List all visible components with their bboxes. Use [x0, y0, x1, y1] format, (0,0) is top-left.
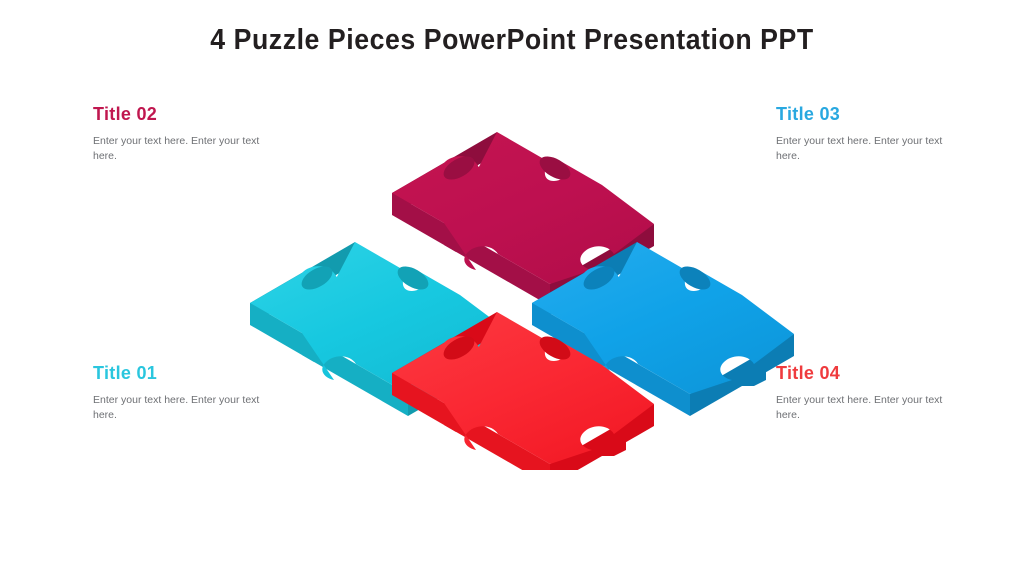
page-title: 4 Puzzle Pieces PowerPoint Presentation …	[41, 24, 983, 57]
puzzle-diagram	[232, 100, 794, 470]
text-block-body-02: Enter your text here. Enter your text he…	[93, 134, 273, 164]
text-block-title-02: Title 02 Enter your text here. Enter you…	[93, 104, 273, 164]
text-block-title-03: Title 03 Enter your text here. Enter you…	[776, 104, 956, 164]
text-block-body-03: Enter your text here. Enter your text he…	[776, 134, 956, 164]
text-block-body-04: Enter your text here. Enter your text he…	[776, 393, 956, 423]
text-block-heading-04: Title 04	[776, 363, 956, 384]
text-block-heading-01: Title 01	[93, 363, 273, 384]
text-block-body-01: Enter your text here. Enter your text he…	[93, 393, 273, 423]
text-block-heading-03: Title 03	[776, 104, 956, 125]
text-block-title-01: Title 01 Enter your text here. Enter you…	[93, 363, 273, 423]
slide-canvas: 4 Puzzle Pieces PowerPoint Presentation …	[0, 0, 1024, 576]
text-block-heading-02: Title 02	[93, 104, 273, 125]
text-block-title-04: Title 04 Enter your text here. Enter you…	[776, 363, 956, 423]
puzzle-svg	[232, 100, 794, 470]
